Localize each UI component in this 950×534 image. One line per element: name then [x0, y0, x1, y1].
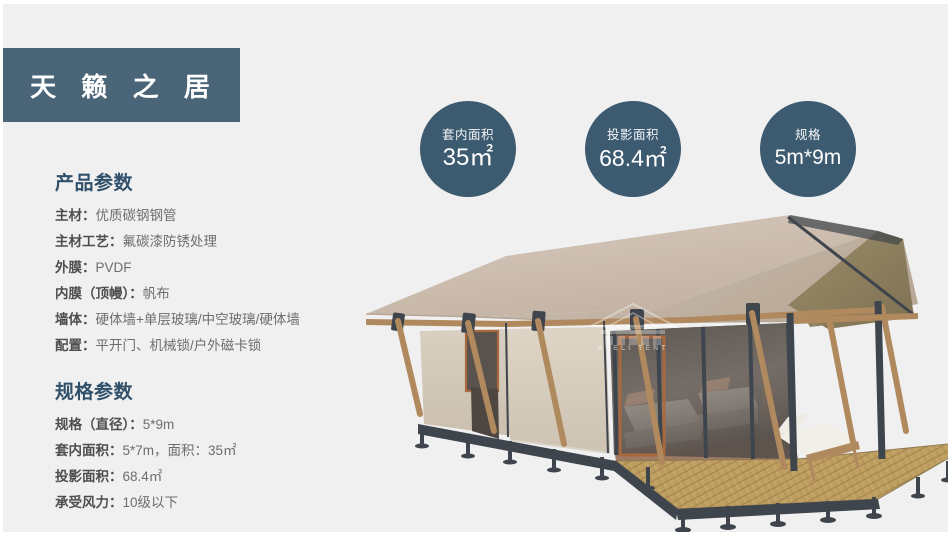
- stat-label: 投影面积: [607, 127, 659, 143]
- spec-value: 优质碳钢钢管: [96, 208, 177, 223]
- spec-row: 墙体：硬体墙+单层玻璃/中空玻璃/硬体墙: [55, 307, 385, 333]
- spec-value: 5*7m，面积：35㎡: [123, 443, 237, 458]
- stat-number: 35: [443, 144, 470, 171]
- spec-row: 投影面积：68.4㎡: [55, 464, 385, 490]
- spec-row: 承受风力：10级以下: [55, 490, 385, 516]
- spec-value: 氟碳漆防锈处理: [123, 234, 218, 249]
- wall-front-panel: [508, 327, 610, 454]
- stat-label: 套内面积: [442, 127, 494, 143]
- spec-row: 主材工艺：氟碳漆防锈处理: [55, 229, 385, 255]
- column-2: [878, 301, 882, 459]
- spec-key: 规格（直径）：: [55, 417, 143, 432]
- section-heading-specification: 规格参数: [55, 377, 385, 404]
- spec-value: 68.4㎡: [123, 469, 163, 484]
- stat-circle-dimensions: 规格 5m*9m: [760, 101, 856, 197]
- stat-value: 5m*9m: [775, 144, 842, 172]
- page-title: 天 籁 之 居: [21, 67, 219, 104]
- spec-key: 主材：: [55, 208, 96, 223]
- spec-value: 硬体墙+单层玻璃/中空玻璃/硬体墙: [96, 312, 300, 327]
- spec-key: 墙体：: [55, 312, 96, 327]
- spec-section-product: 产品参数 主材：优质碳钢钢管 主材工艺：氟碳漆防锈处理 外膜：PVDF 内膜（顶…: [55, 168, 385, 359]
- product-3d-render: [358, 209, 950, 534]
- stat-label: 规格: [795, 127, 821, 143]
- stat-value: 68.4㎡: [599, 144, 667, 172]
- column-1: [790, 313, 794, 471]
- spec-row: 主材：优质碳钢钢管: [55, 203, 385, 229]
- spec-row: 规格（直径）：5*9m: [55, 412, 385, 438]
- spec-row: 配置：平开门、机械锁/户外磁卡锁: [55, 333, 385, 359]
- section-heading-product: 产品参数: [55, 168, 385, 195]
- title-banner: 天 籁 之 居: [0, 48, 240, 122]
- spec-section-specification: 规格参数 规格（直径）：5*9m 套内面积：5*7m，面积：35㎡ 投影面积：6…: [55, 377, 385, 516]
- spec-key: 配置：: [55, 338, 96, 353]
- spec-value: 帆布: [143, 286, 170, 301]
- stat-unit: ㎡: [644, 145, 667, 171]
- stat-circle-interior-area: 套内面积 35㎡: [420, 101, 516, 197]
- stat-unit: ㎡: [469, 144, 493, 171]
- spec-key: 主材工艺：: [55, 234, 123, 249]
- stat-number: 68.4: [599, 145, 644, 171]
- spec-rows-specification: 规格（直径）：5*9m 套内面积：5*7m，面积：35㎡ 投影面积：68.4㎡ …: [55, 412, 385, 516]
- tent-render-svg: [358, 209, 950, 534]
- spec-value: 平开门、机械锁/户外磁卡锁: [96, 338, 262, 353]
- product-spec-page: 天 籁 之 居 产品参数 主材：优质碳钢钢管 主材工艺：氟碳漆防锈处理 外膜：P…: [0, 0, 950, 534]
- spec-panel: 产品参数 主材：优质碳钢钢管 主材工艺：氟碳漆防锈处理 外膜：PVDF 内膜（顶…: [55, 168, 385, 534]
- spec-value: PVDF: [96, 260, 132, 275]
- stat-number: 5m*9m: [775, 146, 842, 169]
- spec-value: 10级以下: [123, 495, 179, 510]
- spec-key: 承受风力：: [55, 495, 123, 510]
- spec-row: 套内面积：5*7m，面积：35㎡: [55, 438, 385, 464]
- spec-rows-product: 主材：优质碳钢钢管 主材工艺：氟碳漆防锈处理 外膜：PVDF 内膜（顶幔）：帆布…: [55, 203, 385, 359]
- spec-key: 内膜（顶幔）：: [55, 286, 143, 301]
- spec-value: 5*9m: [143, 417, 175, 432]
- spec-key: 投影面积：: [55, 469, 123, 484]
- stat-circle-projected-area: 投影面积 68.4㎡: [585, 101, 681, 197]
- spec-key: 外膜：: [55, 260, 96, 275]
- spec-row: 内膜（顶幔）：帆布: [55, 281, 385, 307]
- stat-value: 35㎡: [443, 144, 494, 172]
- spec-row: 外膜：PVDF: [55, 255, 385, 281]
- spec-key: 套内面积：: [55, 443, 123, 458]
